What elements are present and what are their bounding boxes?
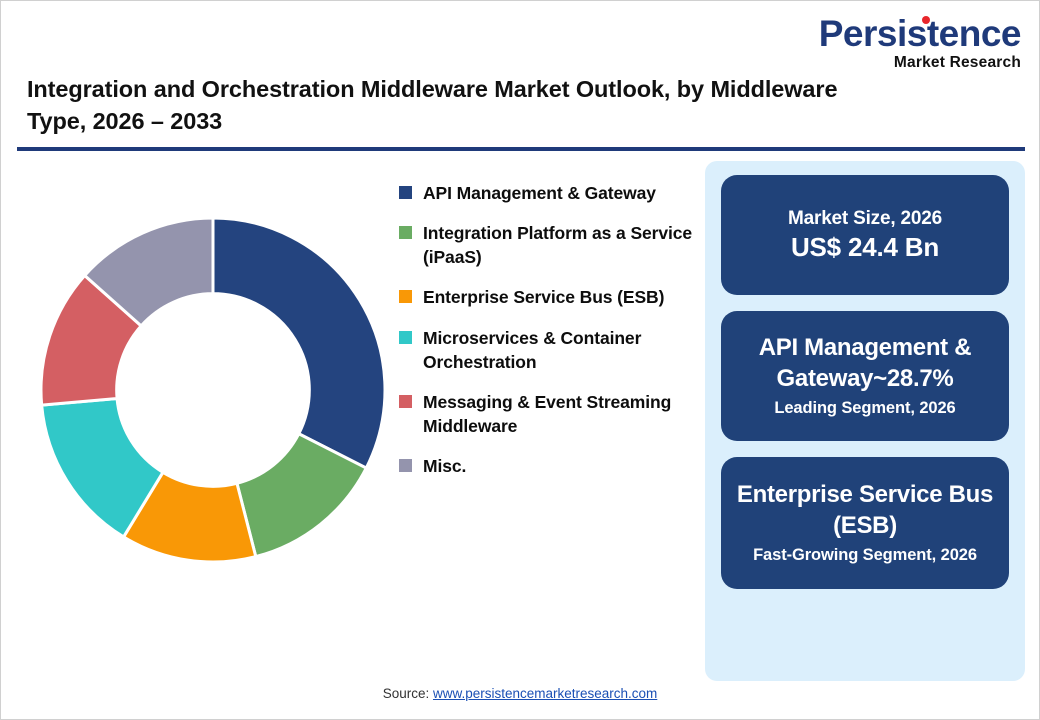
legend-item[interactable]: Integration Platform as a Service (iPaaS… <box>399 221 699 269</box>
legend-swatch-icon <box>399 331 412 344</box>
legend-item[interactable]: Misc. <box>399 454 699 478</box>
legend-item-label: Misc. <box>423 454 466 478</box>
brand-logo: Persistence Market Research <box>819 15 1021 71</box>
title-divider <box>17 147 1025 151</box>
chart-legend: API Management & Gateway Integration Pla… <box>399 181 699 494</box>
legend-item-label: Microservices & Container Orchestration <box>423 326 699 374</box>
legend-swatch-icon <box>399 290 412 303</box>
donut-slice[interactable] <box>213 218 385 468</box>
market-size-card[interactable]: Market Size, 2026 US$ 24.4 Bn <box>721 175 1009 295</box>
page-title: Integration and Orchestration Middleware… <box>27 73 857 137</box>
donut-chart <box>35 212 391 568</box>
fast-growing-segment-sublabel: Fast-Growing Segment, 2026 <box>753 545 977 566</box>
fast-growing-segment-card[interactable]: Enterprise Service Bus (ESB) Fast-Growin… <box>721 457 1009 589</box>
highlights-panel: Market Size, 2026 US$ 24.4 Bn API Manage… <box>705 161 1025 681</box>
source-prefix: Source: <box>383 686 433 701</box>
legend-item[interactable]: Microservices & Container Orchestration <box>399 326 699 374</box>
source-link[interactable]: www.persistencemarketresearch.com <box>433 686 657 701</box>
legend-item[interactable]: Messaging & Event Streaming Middleware <box>399 390 699 438</box>
legend-item-label: Enterprise Service Bus (ESB) <box>423 285 664 309</box>
legend-item[interactable]: API Management & Gateway <box>399 181 699 205</box>
leading-segment-headline: API Management & Gateway~28.7% <box>735 333 995 394</box>
donut-slice-group <box>41 218 385 562</box>
market-size-label: Market Size, 2026 <box>788 207 942 231</box>
legend-swatch-icon <box>399 226 412 239</box>
logo-red-dot-icon <box>922 16 930 24</box>
brand-tagline: Market Research <box>819 55 1021 71</box>
legend-item[interactable]: Enterprise Service Bus (ESB) <box>399 285 699 309</box>
source-footer: Source: www.persistencemarketresearch.co… <box>1 686 1039 701</box>
legend-item-label: Integration Platform as a Service (iPaaS… <box>423 221 699 269</box>
legend-swatch-icon <box>399 186 412 199</box>
infographic-page: Persistence Market Research Integration … <box>0 0 1040 720</box>
leading-segment-card[interactable]: API Management & Gateway~28.7% Leading S… <box>721 311 1009 441</box>
leading-segment-sublabel: Leading Segment, 2026 <box>774 398 955 419</box>
fast-growing-segment-headline: Enterprise Service Bus (ESB) <box>735 480 995 541</box>
legend-item-label: API Management & Gateway <box>423 181 656 205</box>
market-size-value: US$ 24.4 Bn <box>791 231 939 264</box>
brand-name-text: Persistence <box>819 13 1021 54</box>
brand-name: Persistence <box>819 15 1021 52</box>
legend-swatch-icon <box>399 459 412 472</box>
legend-item-label: Messaging & Event Streaming Middleware <box>423 390 699 438</box>
legend-swatch-icon <box>399 395 412 408</box>
donut-chart-svg <box>35 212 391 568</box>
